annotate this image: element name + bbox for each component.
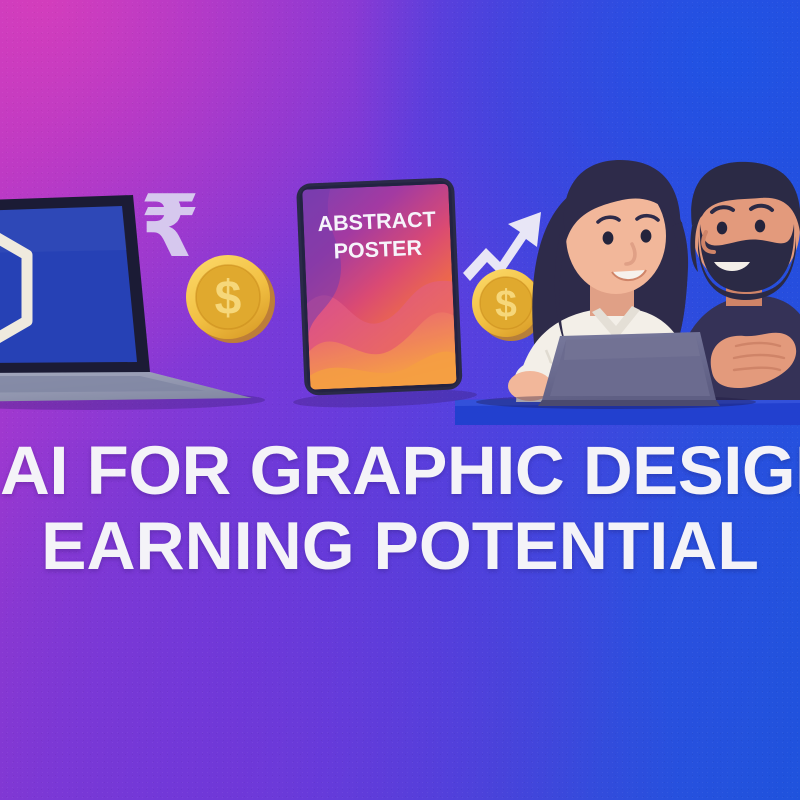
tablet-poster-title-line1: ABSTRACT	[317, 207, 436, 236]
svg-text:$: $	[215, 272, 242, 325]
poster-canvas: AI ₹ $	[0, 0, 800, 800]
svg-text:$: $	[495, 283, 517, 326]
rupee-symbol-icon: ₹	[140, 177, 200, 277]
svg-text:₹: ₹	[140, 177, 200, 277]
headline-line-1: AI FOR GRAPHIC DESIGN	[0, 437, 800, 505]
coin-dollar-icon-1: $	[186, 255, 275, 343]
hero-illustration: AI ₹ $	[0, 0, 800, 425]
tablet-abstract-poster: ABSTRACT POSTER	[284, 177, 477, 411]
svg-text:AI: AI	[0, 253, 2, 322]
headline-line-2: EARNING POTENTIAL	[0, 513, 800, 580]
tablet-poster-title-line2: POSTER	[333, 236, 423, 264]
page-title: AI FOR GRAPHIC DESIGN EARNING POTENTIAL	[0, 437, 800, 581]
